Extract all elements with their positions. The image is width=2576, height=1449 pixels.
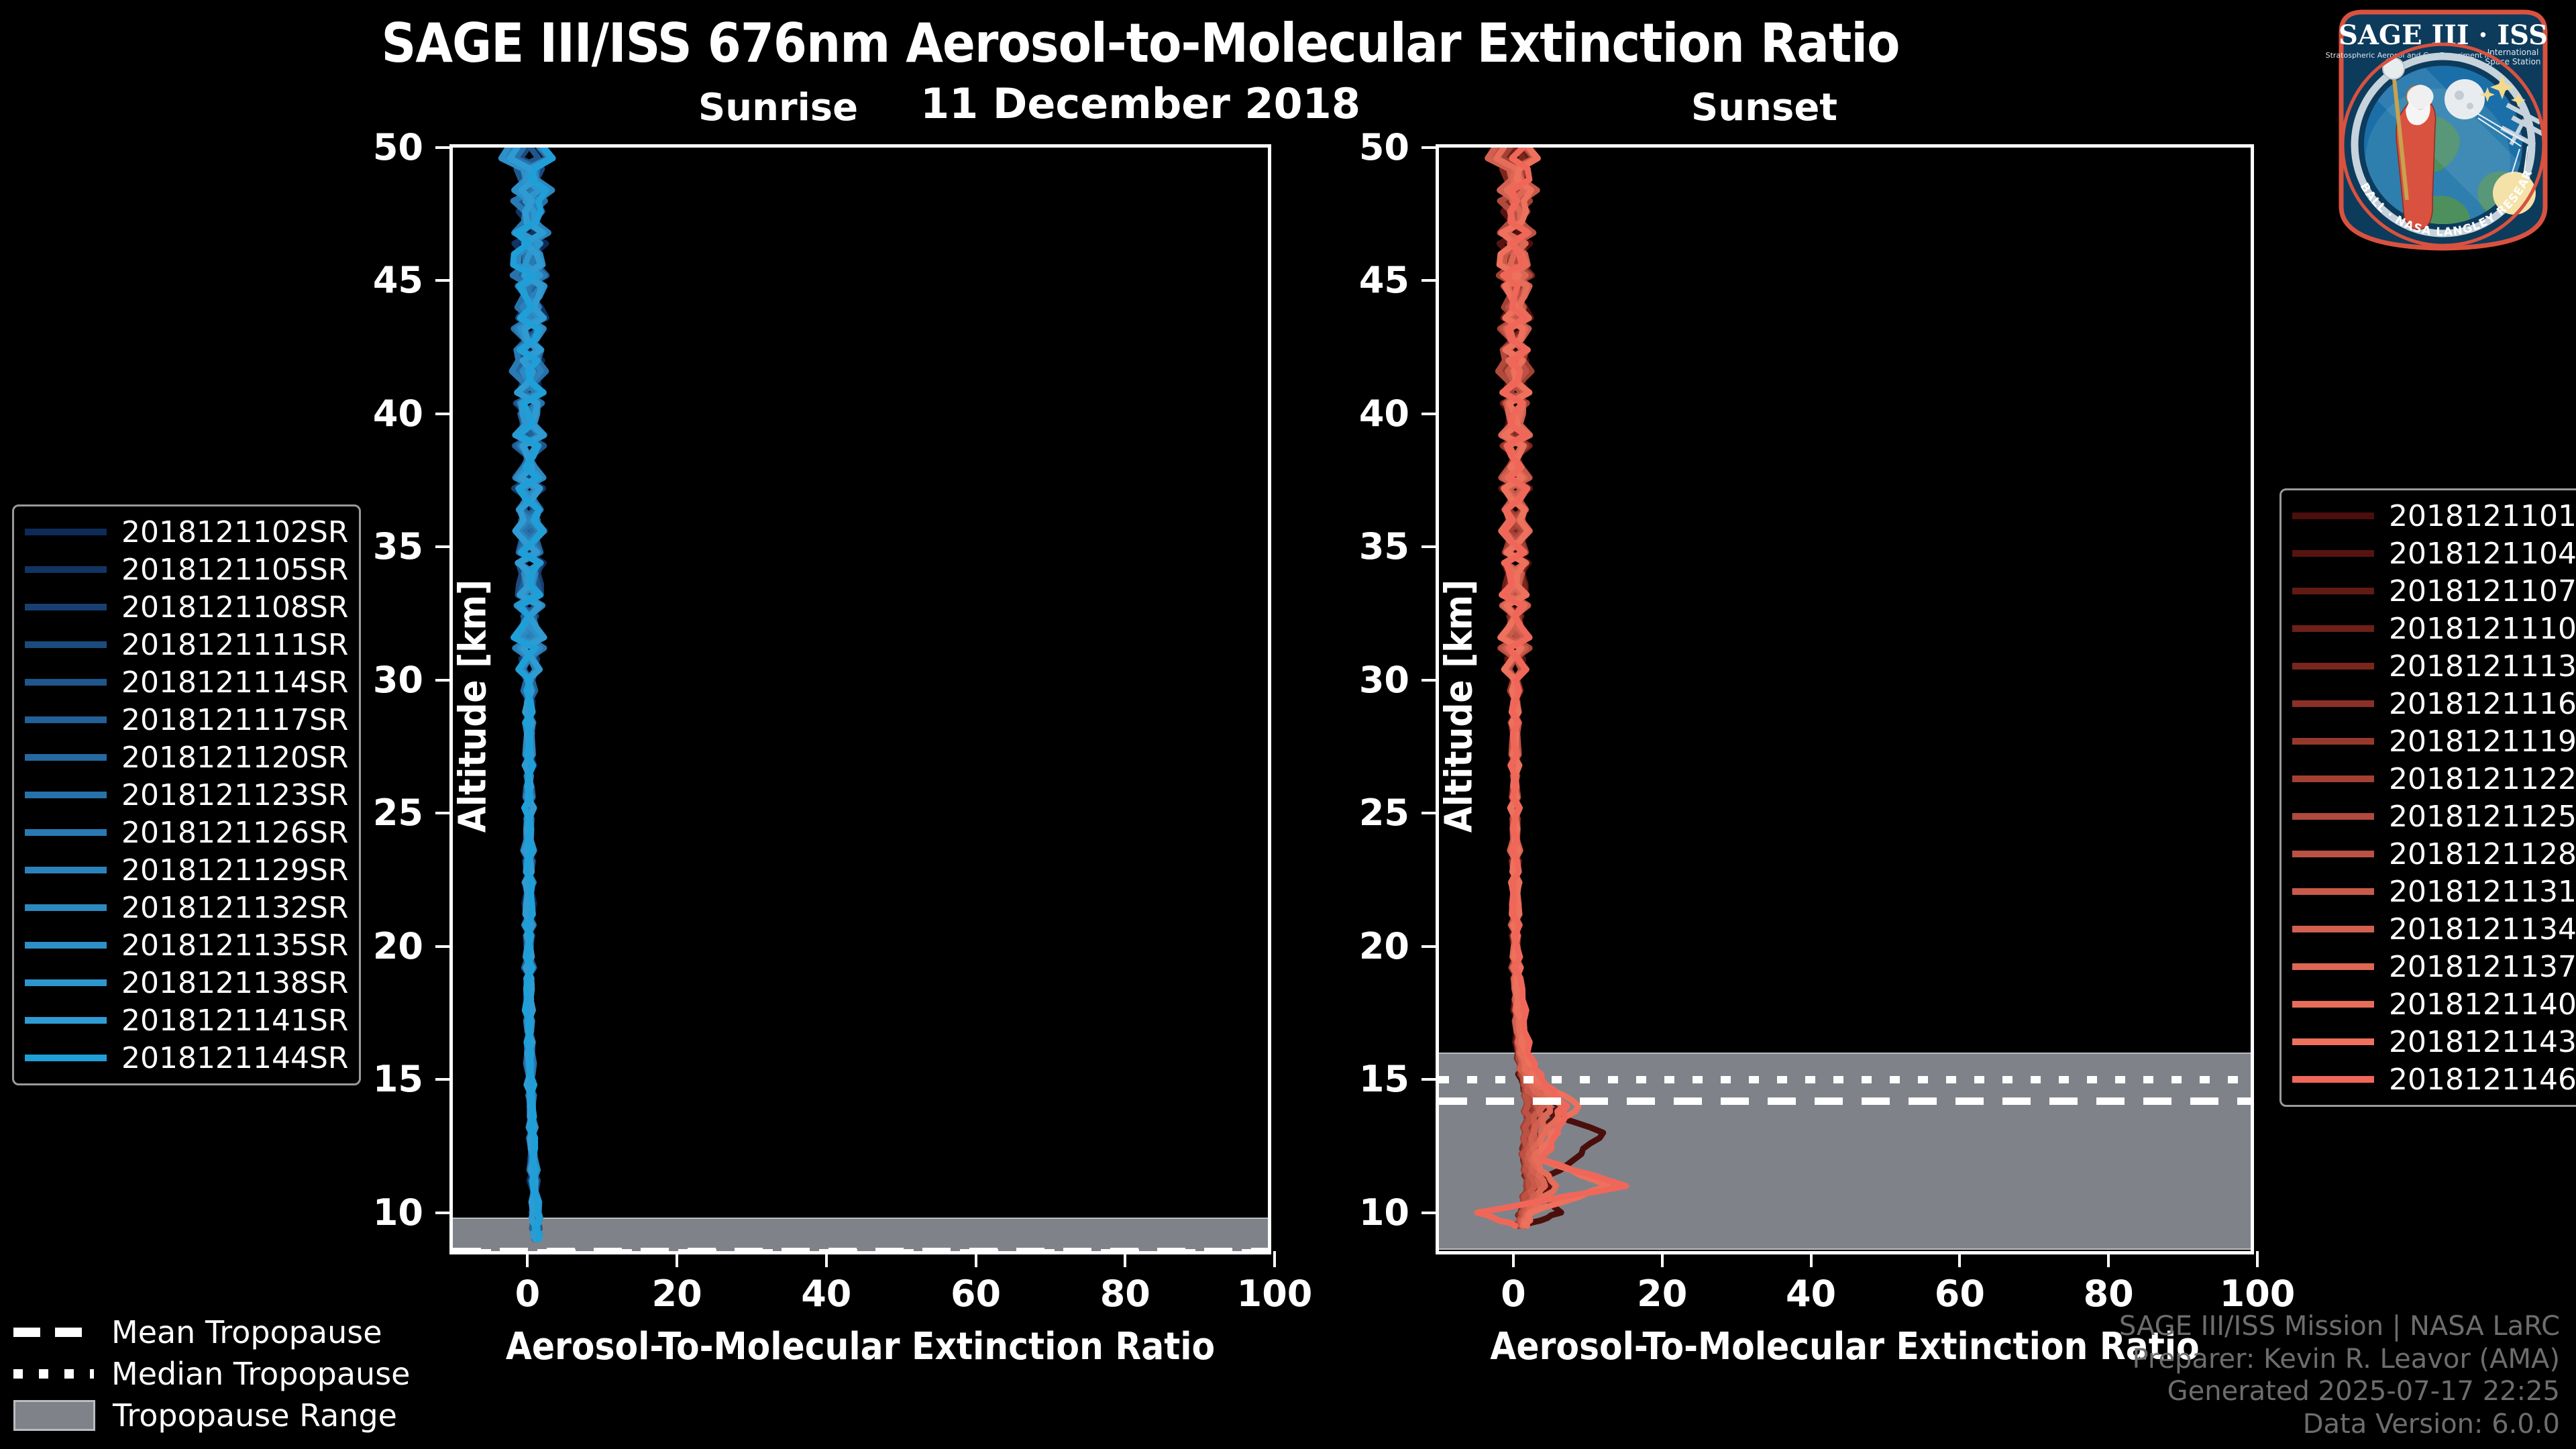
legend-color-swatch (2292, 700, 2374, 707)
legend-item-tropopause-range: Tropopause Range (13, 1395, 410, 1436)
legend-label: 2018121104SS (2389, 537, 2576, 571)
legend-color-swatch (2292, 625, 2374, 632)
legend-label: 2018121131SS (2389, 875, 2576, 909)
y-axis-tick (435, 1078, 453, 1081)
y-axis-tick (435, 279, 453, 282)
x-axis-tick-label: 0 (460, 1273, 594, 1315)
legend-color-swatch (2292, 513, 2374, 519)
legend-item[interactable]: 2018121125SS (2292, 798, 2576, 835)
legend-color-swatch (2292, 1076, 2374, 1083)
legend-color-swatch (2292, 588, 2374, 594)
x-axis-tick (676, 1251, 678, 1267)
y-axis-tick (1421, 812, 1439, 814)
y-axis-tick (1421, 279, 1439, 282)
legend-color-swatch (2292, 738, 2374, 745)
y-axis-tick-label: 20 (1275, 925, 1409, 967)
sunrise-legend: 2018121102SR2018121105SR2018121108SR2018… (12, 504, 361, 1085)
x-axis-tick (825, 1251, 828, 1267)
mean-tropopause-line (453, 1248, 1268, 1251)
legend-item[interactable]: 2018121132SR (25, 889, 348, 926)
sunset-panel-label: Sunset (1590, 86, 1939, 129)
legend-label: 2018121135SR (121, 928, 348, 963)
legend-label: 2018121126SR (121, 816, 348, 850)
footer-line-mission: SAGE III/ISS Mission | NASA LaRC (2119, 1310, 2560, 1343)
legend-item[interactable]: 2018121143SS (2292, 1023, 2576, 1061)
legend-item[interactable]: 2018121122SS (2292, 760, 2576, 798)
legend-label: 2018121128SS (2389, 837, 2576, 871)
y-axis-tick (1421, 413, 1439, 415)
sunset-plot-panel: Altitude [km] 10152025303540455002040608… (1436, 144, 2254, 1254)
legend-label: 2018121102SR (121, 515, 348, 549)
x-axis-tick-label: 100 (1207, 1273, 1342, 1315)
legend-label: 2018121117SR (121, 703, 348, 737)
dotted-line-icon (13, 1369, 94, 1379)
data-trace (1477, 148, 1626, 1226)
legend-item[interactable]: 2018121101SS (2292, 497, 2576, 535)
x-axis-tick (1958, 1251, 1961, 1267)
legend-label: 2018121134SS (2389, 912, 2576, 947)
legend-label: 2018121120SR (121, 741, 348, 775)
x-axis-tick-label: 20 (1595, 1273, 1729, 1315)
legend-color-swatch (25, 529, 107, 535)
x-axis-tick (2107, 1251, 2110, 1267)
footer-line-generated: Generated 2025-07-17 22:25 (2119, 1375, 2560, 1408)
y-axis-tick-label: 25 (1275, 792, 1409, 834)
legend-color-swatch (25, 829, 107, 836)
x-axis-tick-label: 60 (909, 1273, 1043, 1315)
legend-color-swatch (2292, 550, 2374, 557)
legend-label: 2018121113SS (2389, 649, 2576, 684)
legend-item[interactable]: 2018121128SS (2292, 835, 2576, 873)
y-axis-tick (1421, 1212, 1439, 1214)
sunrise-y-axis-title: Altitude [km] (451, 539, 495, 874)
legend-item[interactable]: 2018121117SR (25, 701, 348, 739)
legend-label-median-tropopause: Median Tropopause (111, 1356, 410, 1392)
legend-label-mean-tropopause: Mean Tropopause (111, 1314, 382, 1350)
x-axis-tick-label: 80 (2041, 1273, 2176, 1315)
legend-label: 2018121114SR (121, 665, 348, 700)
legend-color-swatch (2292, 813, 2374, 820)
sunset-plot-area (1439, 148, 2251, 1251)
y-axis-tick (435, 679, 453, 682)
x-axis-tick-label: 100 (2190, 1273, 2324, 1315)
y-axis-tick (435, 812, 453, 814)
legend-item[interactable]: 2018121110SS (2292, 610, 2576, 647)
sage-iii-iss-mission-patch-logo: SAGE III · ISS Stratospheric Aerosol and… (2322, 5, 2564, 254)
legend-item-mean-tropopause: Mean Tropopause (13, 1311, 410, 1353)
sunrise-traces (453, 148, 1268, 1251)
legend-color-swatch (25, 754, 107, 761)
legend-item[interactable]: 2018121108SR (25, 588, 348, 626)
sunrise-panel-label: Sunrise (604, 86, 953, 129)
legend-color-swatch (2292, 963, 2374, 970)
tropopause-legend: Mean Tropopause Median Tropopause Tropop… (13, 1311, 410, 1436)
y-axis-tick-label: 35 (1275, 525, 1409, 568)
legend-item[interactable]: 2018121140SS (2292, 985, 2576, 1023)
legend-item[interactable]: 2018121126SR (25, 814, 348, 851)
y-axis-tick (1421, 545, 1439, 548)
y-axis-tick (435, 945, 453, 948)
legend-item[interactable]: 2018121131SS (2292, 873, 2576, 910)
legend-item[interactable]: 2018121119SS (2292, 722, 2576, 760)
legend-item[interactable]: 2018121102SR (25, 513, 348, 551)
legend-item[interactable]: 2018121129SR (25, 851, 348, 889)
y-axis-tick-label: 30 (1275, 659, 1409, 701)
x-axis-tick (1512, 1251, 1515, 1267)
legend-label: 2018121119SS (2389, 724, 2576, 759)
x-axis-tick-label: 20 (610, 1273, 744, 1315)
legend-label: 2018121122SS (2389, 762, 2576, 796)
sunrise-plot-panel: Altitude [km] 10152025303540455002040608… (449, 144, 1271, 1254)
legend-color-swatch (25, 604, 107, 610)
median-tropopause-line (1439, 1076, 2251, 1083)
legend-label: 2018121110SS (2389, 612, 2576, 646)
y-axis-tick (1421, 945, 1439, 948)
legend-item[interactable]: 2018121146SS (2292, 1061, 2576, 1098)
sunset-legend: 2018121101SS2018121104SS2018121107SS2018… (2279, 488, 2576, 1107)
y-axis-tick-label: 40 (289, 392, 423, 435)
sunset-traces (1439, 148, 2251, 1251)
legend-color-swatch (25, 679, 107, 686)
legend-label: 2018121132SR (121, 891, 348, 925)
sunrise-plot-area (453, 148, 1268, 1251)
x-axis-tick (2256, 1251, 2259, 1267)
x-axis-tick (1124, 1251, 1126, 1267)
legend-label: 2018121146SS (2389, 1063, 2576, 1097)
legend-item[interactable]: 2018121113SS (2292, 647, 2576, 685)
legend-label: 2018121111SR (121, 628, 348, 662)
legend-item[interactable]: 2018121107SS (2292, 572, 2576, 610)
legend-color-swatch (2292, 926, 2374, 932)
x-axis-tick (1810, 1251, 1813, 1267)
svg-text:SAGE III · ISS: SAGE III · ISS (2339, 19, 2548, 51)
svg-text:International: International (2487, 48, 2539, 57)
legend-color-swatch (25, 979, 107, 986)
y-axis-tick (1421, 146, 1439, 149)
legend-label: 2018121105SR (121, 553, 348, 587)
legend-color-swatch (25, 1055, 107, 1061)
sunset-y-axis-title: Altitude [km] (1438, 539, 1481, 874)
legend-label: 2018121125SS (2389, 800, 2576, 834)
legend-item[interactable]: 2018121123SR (25, 776, 348, 814)
legend-label: 2018121141SR (121, 1004, 348, 1038)
legend-label-tropopause-range: Tropopause Range (113, 1397, 397, 1434)
page-subtitle: 11 December 2018 (0, 79, 2281, 128)
legend-label: 2018121116SS (2389, 687, 2576, 721)
footer: SAGE III/ISS Mission | NASA LaRC Prepare… (2119, 1310, 2560, 1441)
legend-item[interactable]: 2018121135SR (25, 926, 348, 964)
x-axis-tick (526, 1251, 529, 1267)
y-axis-tick-label: 45 (289, 259, 423, 301)
y-axis-tick-label: 15 (1275, 1058, 1409, 1100)
legend-label: 2018121140SS (2389, 987, 2576, 1022)
legend-label: 2018121138SR (121, 966, 348, 1000)
legend-item[interactable]: 2018121116SS (2292, 685, 2576, 722)
y-axis-tick-label: 10 (289, 1191, 423, 1234)
footer-line-data-version: Data Version: 6.0.0 (2119, 1408, 2560, 1441)
legend-color-swatch (25, 641, 107, 648)
legend-item[interactable]: 2018121138SR (25, 964, 348, 1002)
y-axis-tick-label: 50 (1275, 126, 1409, 168)
legend-item[interactable]: 2018121141SR (25, 1002, 348, 1039)
legend-label: 2018121107SS (2389, 574, 2576, 608)
legend-color-swatch (25, 792, 107, 798)
legend-item[interactable]: 2018121114SR (25, 663, 348, 701)
legend-item[interactable]: 2018121137SS (2292, 948, 2576, 985)
filled-box-icon (13, 1400, 95, 1431)
y-axis-tick (435, 413, 453, 415)
legend-item[interactable]: 2018121134SS (2292, 910, 2576, 948)
legend-color-swatch (25, 1017, 107, 1024)
x-axis-tick (975, 1251, 977, 1267)
legend-color-swatch (25, 867, 107, 873)
legend-color-swatch (2292, 851, 2374, 857)
legend-color-swatch (2292, 663, 2374, 669)
legend-item[interactable]: 2018121111SR (25, 626, 348, 663)
y-axis-tick-label: 40 (1275, 392, 1409, 435)
footer-line-preparer: Preparer: Kevin R. Leavor (AMA) (2119, 1343, 2560, 1376)
x-axis-tick (1661, 1251, 1664, 1267)
legend-color-swatch (25, 904, 107, 911)
legend-item[interactable]: 2018121105SR (25, 551, 348, 588)
legend-color-swatch (2292, 775, 2374, 782)
legend-item[interactable]: 2018121144SR (25, 1039, 348, 1077)
x-axis-tick-label: 80 (1058, 1273, 1192, 1315)
y-axis-tick (435, 146, 453, 149)
page-title: SAGE III/ISS 676nm Aerosol-to-Molecular … (0, 12, 2281, 74)
legend-label: 2018121137SS (2389, 950, 2576, 984)
sunrise-x-axis-title: Aerosol-To-Molecular Extinction Ratio (449, 1325, 1271, 1368)
legend-item-median-tropopause: Median Tropopause (13, 1353, 410, 1395)
y-axis-tick (1421, 679, 1439, 682)
legend-color-swatch (25, 716, 107, 723)
legend-item[interactable]: 2018121120SR (25, 739, 348, 776)
y-axis-tick (435, 545, 453, 548)
legend-color-swatch (2292, 888, 2374, 895)
mean-tropopause-line (1439, 1097, 2251, 1105)
legend-label: 2018121108SR (121, 590, 348, 625)
legend-label: 2018121129SR (121, 853, 348, 888)
y-axis-tick-label: 50 (289, 126, 423, 168)
y-axis-tick-label: 10 (1275, 1191, 1409, 1234)
legend-label: 2018121143SS (2389, 1025, 2576, 1059)
legend-label: 2018121101SS (2389, 499, 2576, 533)
x-axis-tick (1273, 1251, 1276, 1267)
legend-label: 2018121144SR (121, 1041, 348, 1075)
y-axis-tick-label: 45 (1275, 259, 1409, 301)
x-axis-tick-label: 40 (1744, 1273, 1878, 1315)
legend-label: 2018121123SR (121, 778, 348, 812)
legend-color-swatch (2292, 1001, 2374, 1008)
legend-item[interactable]: 2018121104SS (2292, 535, 2576, 572)
legend-color-swatch (25, 566, 107, 573)
x-axis-tick-label: 0 (1446, 1273, 1580, 1315)
dashed-line-icon (13, 1328, 94, 1337)
legend-color-swatch (25, 942, 107, 949)
y-axis-tick (1421, 1078, 1439, 1081)
y-axis-tick (435, 1212, 453, 1214)
legend-color-swatch (2292, 1038, 2374, 1045)
x-axis-tick-label: 60 (1892, 1273, 2027, 1315)
x-axis-tick-label: 40 (759, 1273, 894, 1315)
